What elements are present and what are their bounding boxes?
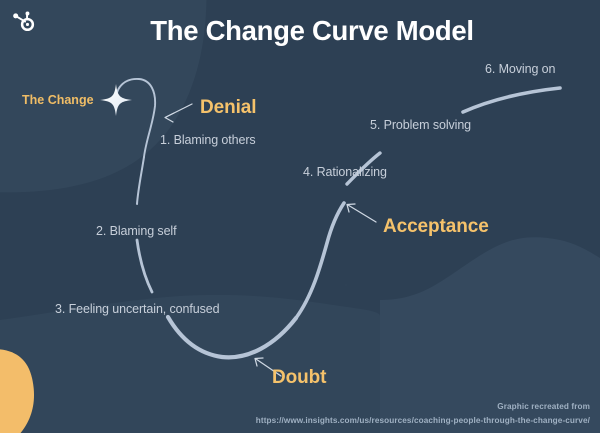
sparkle-star-icon bbox=[100, 84, 132, 116]
the-change-label: The Change bbox=[22, 94, 94, 107]
credit-line-1: Graphic recreated from bbox=[497, 403, 590, 411]
phase-label-denial: Denial bbox=[200, 98, 256, 117]
stage-label-4: 4. Rationalizing bbox=[303, 166, 387, 179]
stage-label-2: 2. Blaming self bbox=[96, 225, 176, 238]
stage-label-6: 6. Moving on bbox=[485, 63, 555, 76]
phase-label-doubt: Doubt bbox=[272, 368, 326, 387]
page-title: The Change Curve Model bbox=[0, 17, 600, 45]
credit-line-2[interactable]: https://www.insights.com/us/resources/co… bbox=[256, 417, 590, 425]
curve-segment-rise-acceptance bbox=[296, 203, 344, 318]
stage-label-5: 5. Problem solving bbox=[370, 119, 471, 132]
stage-label-3: 3. Feeling uncertain, confused bbox=[55, 303, 219, 316]
curve-segment-moving-on bbox=[463, 88, 560, 112]
stage-label-1: 1. Blaming others bbox=[160, 134, 256, 147]
phase-label-acceptance: Acceptance bbox=[383, 217, 489, 236]
change-curve-infographic: The Change Curve Model The Change Denial… bbox=[0, 0, 600, 433]
acceptance-pointer-arrow bbox=[347, 204, 376, 222]
curve-segment-descent-lower bbox=[137, 240, 152, 292]
curve-segment-valley-doubt bbox=[168, 317, 296, 357]
denial-pointer-arrow bbox=[165, 104, 192, 122]
curve-segment-denial-loop bbox=[116, 79, 155, 157]
curve-segment-descent-upper bbox=[137, 157, 144, 204]
